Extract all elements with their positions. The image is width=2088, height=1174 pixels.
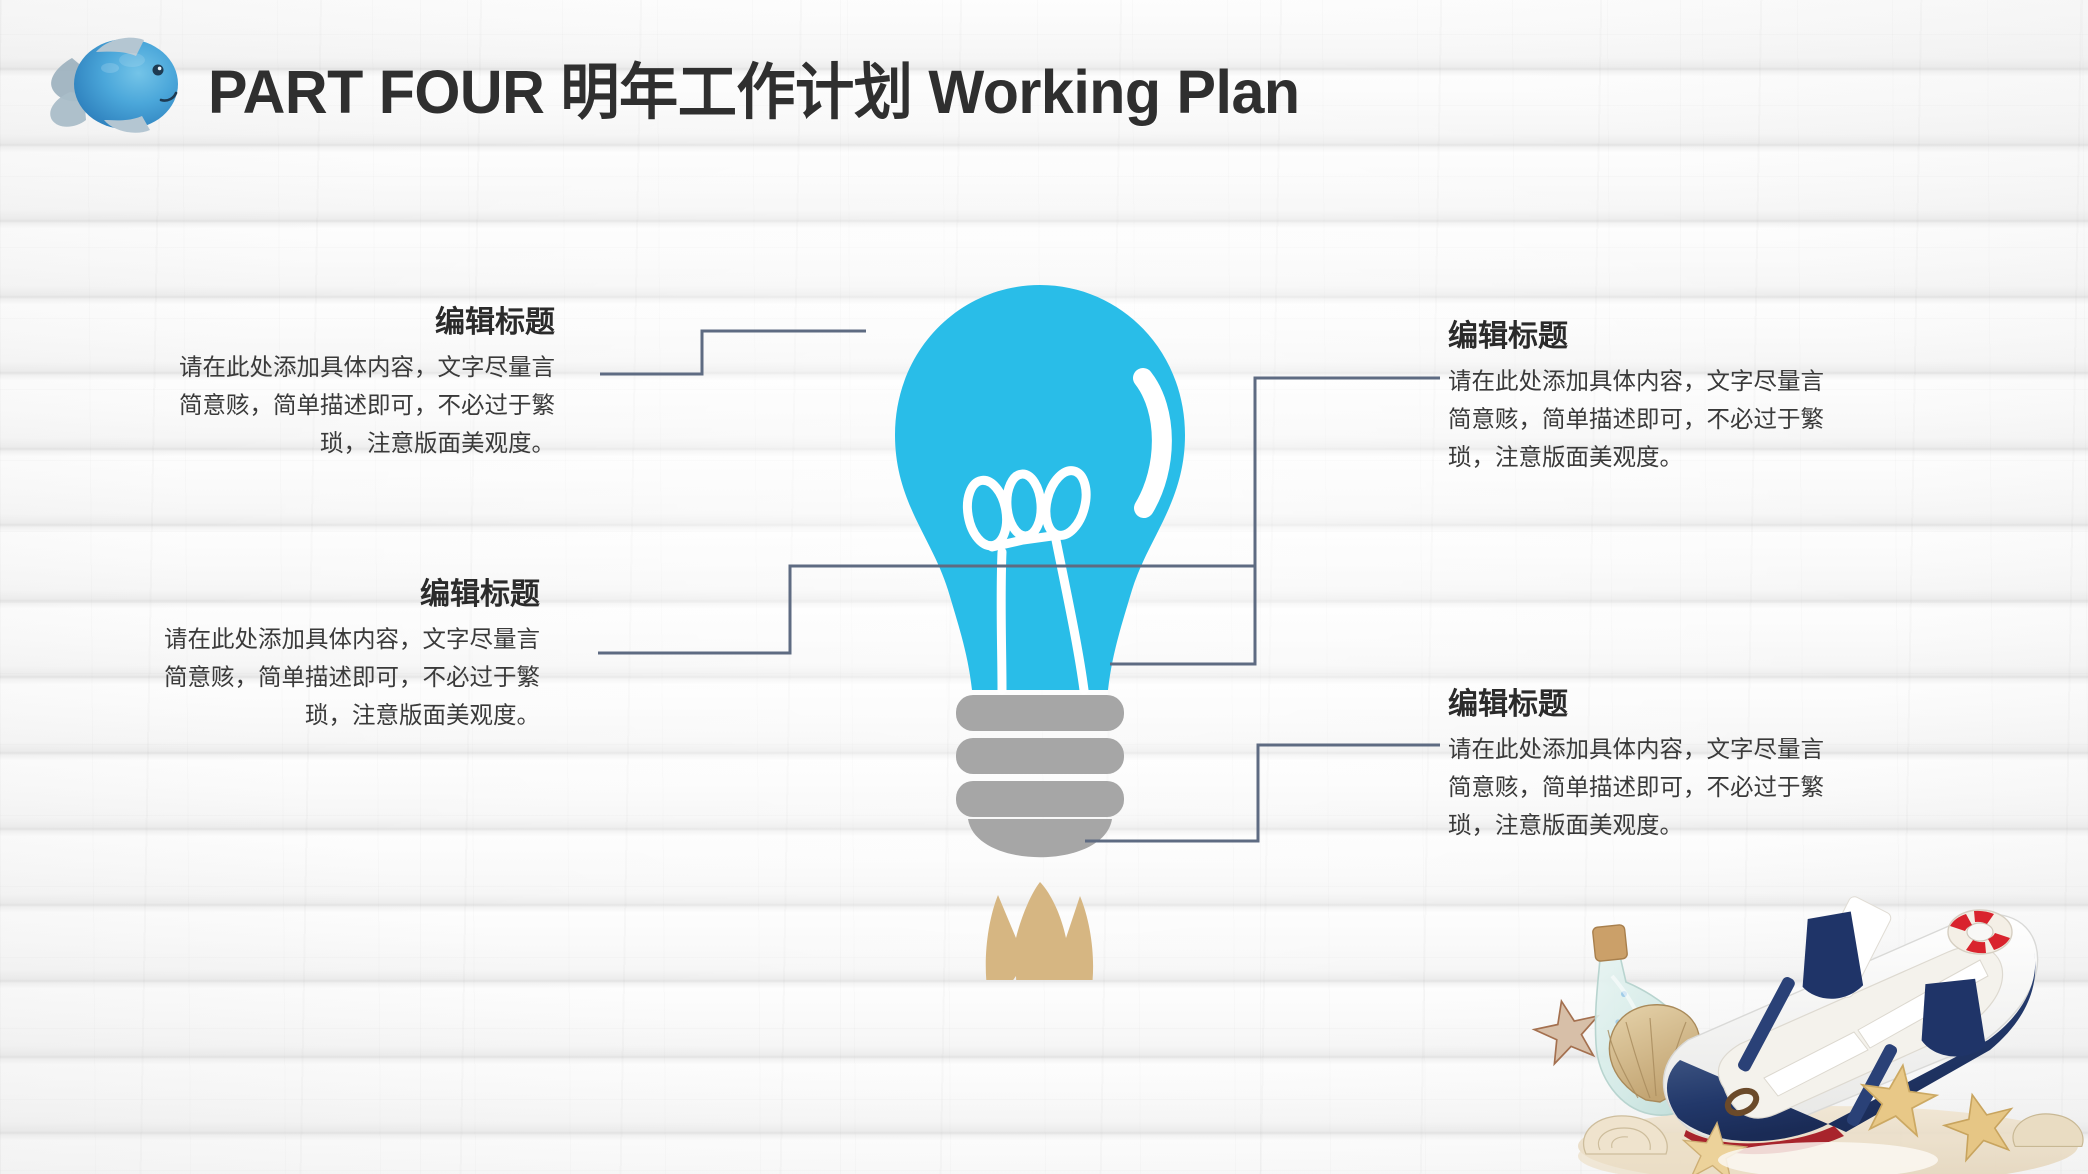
block-body: 请在此处添加具体内容，文字尽量言简意赅，简单描述即可，不必过于繁琐，注意版面美观… bbox=[1448, 362, 1828, 476]
connector-1 bbox=[600, 331, 866, 374]
life-ring-icon bbox=[1948, 910, 2012, 954]
text-block-1[interactable]: 编辑标题 请在此处添加具体内容，文字尽量言简意赅，简单描述即可，不必过于繁琐，注… bbox=[175, 306, 555, 462]
nautical-rowboat-photo bbox=[1528, 864, 2088, 1174]
conch-shell-icon bbox=[2013, 1114, 2083, 1147]
cork bbox=[1592, 924, 1627, 961]
block-title: 编辑标题 bbox=[1448, 688, 1838, 721]
block-title: 编辑标题 bbox=[175, 306, 555, 339]
connector-4 bbox=[1085, 745, 1440, 841]
block-body: 请在此处添加具体内容，文字尽量言简意赅，简单描述即可，不必过于繁琐，注意版面美观… bbox=[1448, 730, 1828, 844]
block-body: 请在此处添加具体内容，文字尽量言简意赅，简单描述即可，不必过于繁琐，注意版面美观… bbox=[160, 620, 540, 734]
connector-2 bbox=[598, 566, 1255, 653]
block-title: 编辑标题 bbox=[160, 578, 540, 611]
block-body: 请在此处添加具体内容，文字尽量言简意赅，简单描述即可，不必过于繁琐，注意版面美观… bbox=[175, 348, 555, 462]
text-block-2[interactable]: 编辑标题 请在此处添加具体内容，文字尽量言简意赅，简单描述即可，不必过于繁琐，注… bbox=[160, 578, 540, 734]
slide-canvas: PART FOUR 明年工作计划 Working Plan bbox=[0, 0, 2088, 1174]
block-title: 编辑标题 bbox=[1448, 320, 1838, 353]
starfish-icon bbox=[1530, 994, 1606, 1066]
text-block-4[interactable]: 编辑标题 请在此处添加具体内容，文字尽量言简意赅，简单描述即可，不必过于繁琐，注… bbox=[1448, 688, 1838, 844]
connector-3 bbox=[1110, 378, 1440, 664]
text-block-3[interactable]: 编辑标题 请在此处添加具体内容，文字尽量言简意赅，简单描述即可，不必过于繁琐，注… bbox=[1448, 320, 1838, 476]
